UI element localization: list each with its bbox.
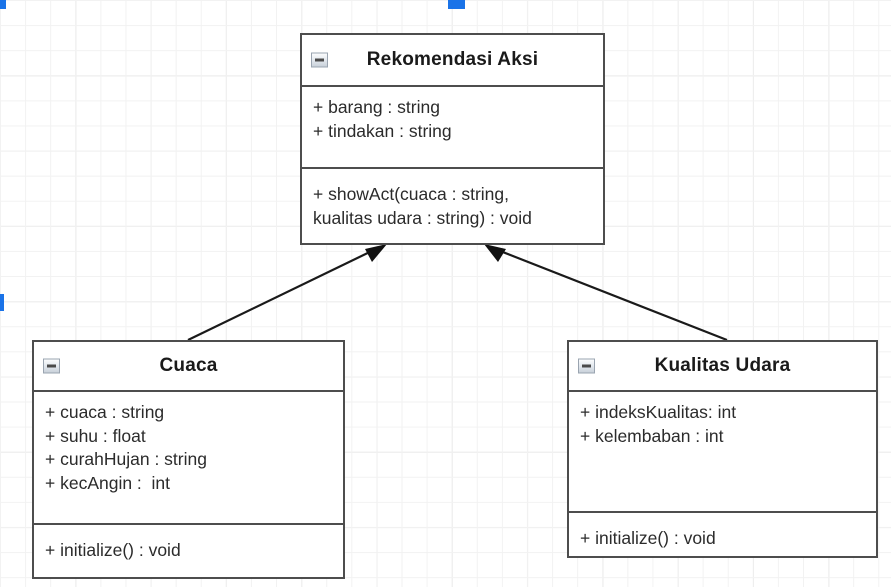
- class-header[interactable]: Cuaca: [34, 342, 343, 392]
- class-title: Rekomendasi Aksi: [337, 49, 568, 71]
- operations-compartment: + initialize() : void: [34, 523, 343, 577]
- minus-box-icon[interactable]: [578, 359, 595, 374]
- attribute-row: + cuaca : string: [45, 401, 332, 425]
- operations-compartment: + showAct(cuaca : string, kualitas udara…: [302, 167, 603, 243]
- attribute-row: + kecAngin : int: [45, 472, 332, 496]
- attributes-compartment: + cuaca : string + suhu : float + curahH…: [34, 392, 343, 523]
- minus-box-icon[interactable]: [43, 359, 60, 374]
- class-header[interactable]: Rekomendasi Aksi: [302, 35, 603, 87]
- attributes-compartment: + barang : string + tindakan : string: [302, 87, 603, 167]
- attribute-row: + curahHujan : string: [45, 448, 332, 472]
- connector-cuaca-to-rekomendasi[interactable]: [188, 244, 387, 340]
- class-header[interactable]: Kualitas Udara: [569, 342, 876, 392]
- attributes-compartment: + indeksKualitas: int + kelembaban : int: [569, 392, 876, 511]
- attribute-row: + barang : string: [313, 96, 592, 120]
- connector-kualitas-udara-to-rekomendasi[interactable]: [484, 244, 727, 340]
- corner-marker: [0, 0, 6, 9]
- operation-row: + initialize() : void: [45, 539, 332, 563]
- attribute-row: + tindakan : string: [313, 120, 592, 144]
- left-edge-marker: [0, 294, 4, 311]
- attribute-row: + indeksKualitas: int: [580, 401, 865, 425]
- class-title: Cuaca: [129, 355, 247, 377]
- top-edge-marker: [448, 0, 465, 9]
- attribute-row: + suhu : float: [45, 425, 332, 449]
- uml-class-cuaca[interactable]: Cuaca + cuaca : string + suhu : float + …: [32, 340, 345, 579]
- uml-class-rekomendasi-aksi[interactable]: Rekomendasi Aksi + barang : string + tin…: [300, 33, 605, 245]
- minus-box-icon[interactable]: [311, 53, 328, 68]
- operation-row: + initialize() : void: [580, 527, 865, 551]
- diagram-canvas[interactable]: Rekomendasi Aksi + barang : string + tin…: [0, 0, 891, 587]
- operation-row: + showAct(cuaca : string, kualitas udara…: [313, 183, 592, 230]
- operations-compartment: + initialize() : void: [569, 511, 876, 557]
- uml-class-kualitas-udara[interactable]: Kualitas Udara + indeksKualitas: int + k…: [567, 340, 878, 558]
- class-title: Kualitas Udara: [625, 355, 821, 377]
- attribute-row: + kelembaban : int: [580, 425, 865, 449]
